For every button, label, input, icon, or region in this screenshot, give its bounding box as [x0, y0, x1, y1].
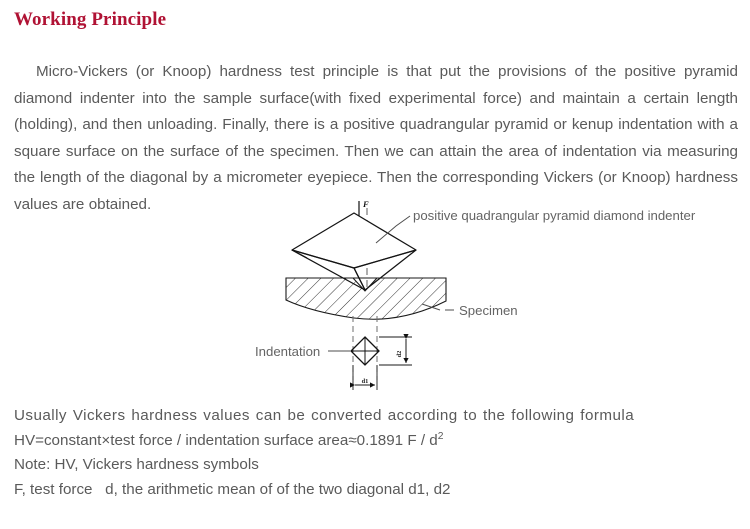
page-title: Working Principle	[14, 9, 166, 31]
formula-equation: HV=constant×test force / indentation sur…	[14, 429, 744, 454]
formula-equation-text: HV=constant×test force / indentation sur…	[14, 432, 438, 449]
formula-definitions: F, test force d, the arithmetic mean of …	[14, 478, 744, 503]
d1-label: d1	[362, 378, 369, 385]
document-page: Working Principle Micro-Vickers (or Knoo…	[0, 0, 750, 529]
indentation-shape	[351, 337, 379, 365]
formula-exponent: 2	[438, 430, 444, 441]
formula-note: Note: HV, Vickers hardness symbols	[14, 453, 744, 478]
intro-paragraph: Micro-Vickers (or Knoop) hardness test p…	[14, 59, 738, 218]
indentation-label: Indentation	[255, 344, 320, 359]
specimen-label: Specimen	[459, 303, 518, 318]
force-label: F	[362, 199, 369, 209]
formula-lead-in: Usually Vickers hardness values can be c…	[14, 404, 744, 429]
indenter-label: positive quadrangular pyramid diamond in…	[413, 208, 696, 223]
vickers-indenter-diagram: positive quadrangular pyramid diamond in…	[250, 196, 750, 401]
formula-block: Usually Vickers hardness values can be c…	[14, 404, 744, 502]
specimen-block	[286, 278, 446, 319]
d2-label: d2	[396, 351, 403, 358]
